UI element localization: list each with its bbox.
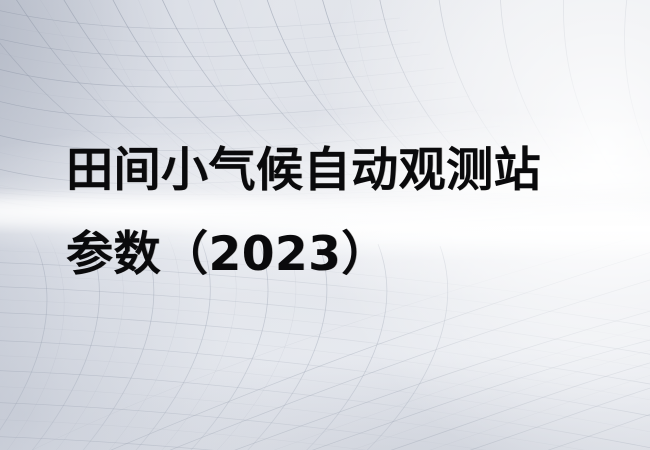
page-title: 田间小气候自动观测站 参数（2023） xyxy=(66,129,626,297)
title-slide: 田间小气候自动观测站 参数（2023） xyxy=(0,0,650,450)
title-line-1: 田间小气候自动观测站 xyxy=(66,129,626,213)
title-line-2: 参数（2023） xyxy=(66,213,626,297)
